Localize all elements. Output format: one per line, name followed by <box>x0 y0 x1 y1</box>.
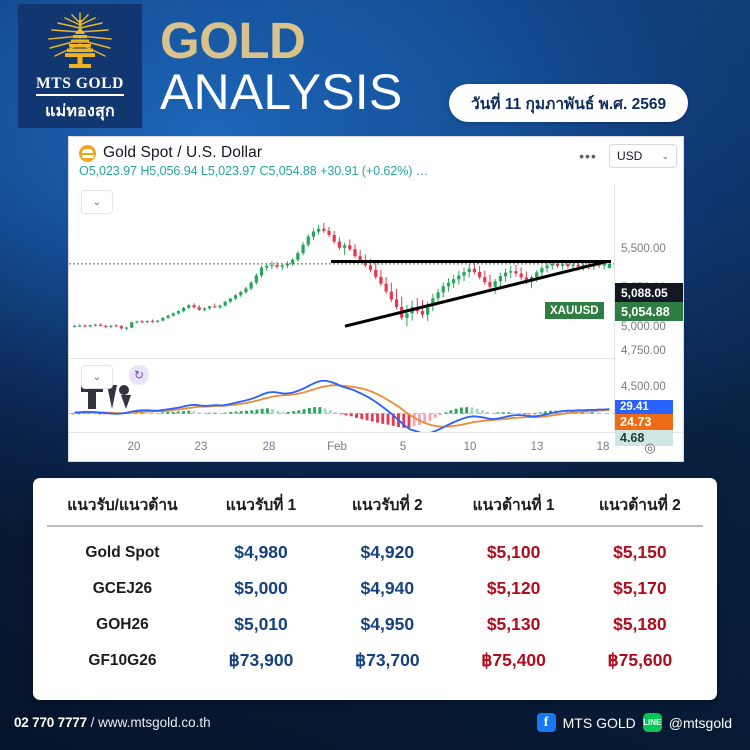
symbol-price-badge: 5,054.88 <box>615 302 684 321</box>
symbol-name: Gold Spot / U.S. Dollar <box>103 144 262 162</box>
chart-header: Gold Spot / U.S. Dollar O5,023.97 H5,056… <box>69 137 683 185</box>
price-tick: 5,500.00 <box>621 243 666 255</box>
collapse-price-pane-icon[interactable]: ⌄ <box>81 190 113 214</box>
cell-resistance-2: $5,150 <box>577 526 703 563</box>
title-analysis: ANALYSIS <box>160 66 402 118</box>
price-axis[interactable]: 5,500.00 5,250.00 5,000.00 4,750.00 4,50… <box>615 185 684 433</box>
cell-support-1: $5,010 <box>198 599 324 635</box>
page-title: GOLD ANALYSIS <box>160 16 402 118</box>
price-tick: 4,500.00 <box>621 381 666 393</box>
th-support-1: แนวรับที่ 1 <box>198 492 324 526</box>
cell-support-2: $4,940 <box>324 563 450 599</box>
cell-resistance-2: $5,170 <box>577 563 703 599</box>
macd-blue-badge: 29.41 <box>615 400 673 414</box>
time-tick: 20 <box>128 441 141 453</box>
table-row: GCEJ26 $5,000 $4,940 $5,120 $5,170 <box>47 563 703 599</box>
cell-support-1: $5,000 <box>198 563 324 599</box>
footer: 02 770 7777 / www.mtsgold.co.th f MTS GO… <box>0 702 750 750</box>
website-url[interactable]: / www.mtsgold.co.th <box>91 715 211 730</box>
levels-table-card: แนวรับ/แนวต้าน แนวรับที่ 1 แนวรับที่ 2 แ… <box>33 478 717 700</box>
chevron-down-icon: ⌄ <box>661 151 669 162</box>
th-category: แนวรับ/แนวต้าน <box>47 492 198 526</box>
date-badge: วันที่ 11 กุมภาพันธ์ พ.ศ. 2569 <box>449 84 688 122</box>
th-resistance-1: แนวต้านที่ 1 <box>450 492 576 526</box>
levels-table: แนวรับ/แนวต้าน แนวรับที่ 1 แนวรับที่ 2 แ… <box>47 492 703 671</box>
chart-card: Gold Spot / U.S. Dollar O5,023.97 H5,056… <box>68 136 684 462</box>
chart-body: ⌄ ⌄ ↻ 5,500.00 5,250.00 5,000.00 4,750.0… <box>69 185 683 462</box>
pagoda-icon <box>38 12 122 74</box>
logo-text-en: MTS GOLD <box>36 75 124 96</box>
logo-text-th: แม่ทองสุก <box>45 99 115 124</box>
row-label: GF10G26 <box>47 635 198 671</box>
cell-support-1: $4,980 <box>198 526 324 563</box>
cell-resistance-1: $5,130 <box>450 599 576 635</box>
phone-number[interactable]: 02 770 7777 <box>14 715 87 730</box>
time-tick: Feb <box>327 441 347 453</box>
macd-orange-badge: 24.73 <box>615 414 673 430</box>
time-tick: 18 <box>597 441 610 453</box>
facebook-icon[interactable]: f <box>537 713 556 732</box>
currency-select[interactable]: USD ⌄ <box>609 144 677 168</box>
row-label: GOH26 <box>47 599 198 635</box>
candlestick-svg <box>69 185 615 433</box>
refresh-icon[interactable]: ↻ <box>129 365 149 385</box>
brand-logo: MTS GOLD แม่ทองสุก <box>18 4 142 128</box>
time-tick: 23 <box>195 441 208 453</box>
table-row: Gold Spot $4,980 $4,920 $5,100 $5,150 <box>47 526 703 563</box>
title-gold: GOLD <box>160 16 402 66</box>
header: MTS GOLD แม่ทองสุก GOLD ANALYSIS วันที่ … <box>0 0 750 132</box>
cell-support-2: $4,920 <box>324 526 450 563</box>
cell-resistance-2: ฿75,600 <box>577 635 703 671</box>
th-resistance-2: แนวต้านที่ 2 <box>577 492 703 526</box>
cell-resistance-1: $5,100 <box>450 526 576 563</box>
time-tick: 5 <box>400 441 406 453</box>
poster-root: MTS GOLD แม่ทองสุก GOLD ANALYSIS วันที่ … <box>0 0 750 750</box>
cell-support-2: ฿73,700 <box>324 635 450 671</box>
time-tick: 10 <box>464 441 477 453</box>
currency-value: USD <box>617 149 642 163</box>
contact-line: 02 770 7777 / www.mtsgold.co.th <box>14 715 211 730</box>
price-tick: 4,750.00 <box>621 345 666 357</box>
time-tick: 28 <box>263 441 276 453</box>
th-support-2: แนวรับที่ 2 <box>324 492 450 526</box>
cell-resistance-2: $5,180 <box>577 599 703 635</box>
collapse-macd-pane-icon[interactable]: ⌄ <box>81 365 113 389</box>
time-tick: 13 <box>531 441 544 453</box>
price-tick: 5,000.00 <box>621 321 666 333</box>
more-options-icon[interactable]: ••• <box>575 145 601 167</box>
facebook-label[interactable]: MTS GOLD <box>563 715 636 731</box>
row-label: Gold Spot <box>47 526 198 563</box>
cell-support-2: $4,950 <box>324 599 450 635</box>
social-links: f MTS GOLD LINE @mtsgold <box>537 713 732 732</box>
cell-resistance-1: ฿75,400 <box>450 635 576 671</box>
table-row: GOH26 $5,010 $4,950 $5,130 $5,180 <box>47 599 703 635</box>
cell-support-1: ฿73,900 <box>198 635 324 671</box>
table-header-row: แนวรับ/แนวต้าน แนวรับที่ 1 แนวรับที่ 2 แ… <box>47 492 703 526</box>
cell-resistance-1: $5,120 <box>450 563 576 599</box>
last-price-badge: 5,088.05 <box>615 283 684 302</box>
line-label[interactable]: @mtsgold <box>669 715 732 731</box>
row-label: GCEJ26 <box>47 563 198 599</box>
line-icon[interactable]: LINE <box>643 713 662 732</box>
time-axis[interactable]: 20 23 28 Feb 5 10 13 18 <box>69 434 615 462</box>
symbol-tag: XAUUSD <box>545 302 604 319</box>
table-row: GF10G26 ฿73,900 ฿73,700 ฿75,400 ฿75,600 <box>47 635 703 671</box>
gold-symbol-icon <box>79 145 96 162</box>
price-plot[interactable] <box>69 185 615 433</box>
chart-settings-icon[interactable]: ◎ <box>615 434 684 462</box>
pane-divider <box>69 358 615 359</box>
